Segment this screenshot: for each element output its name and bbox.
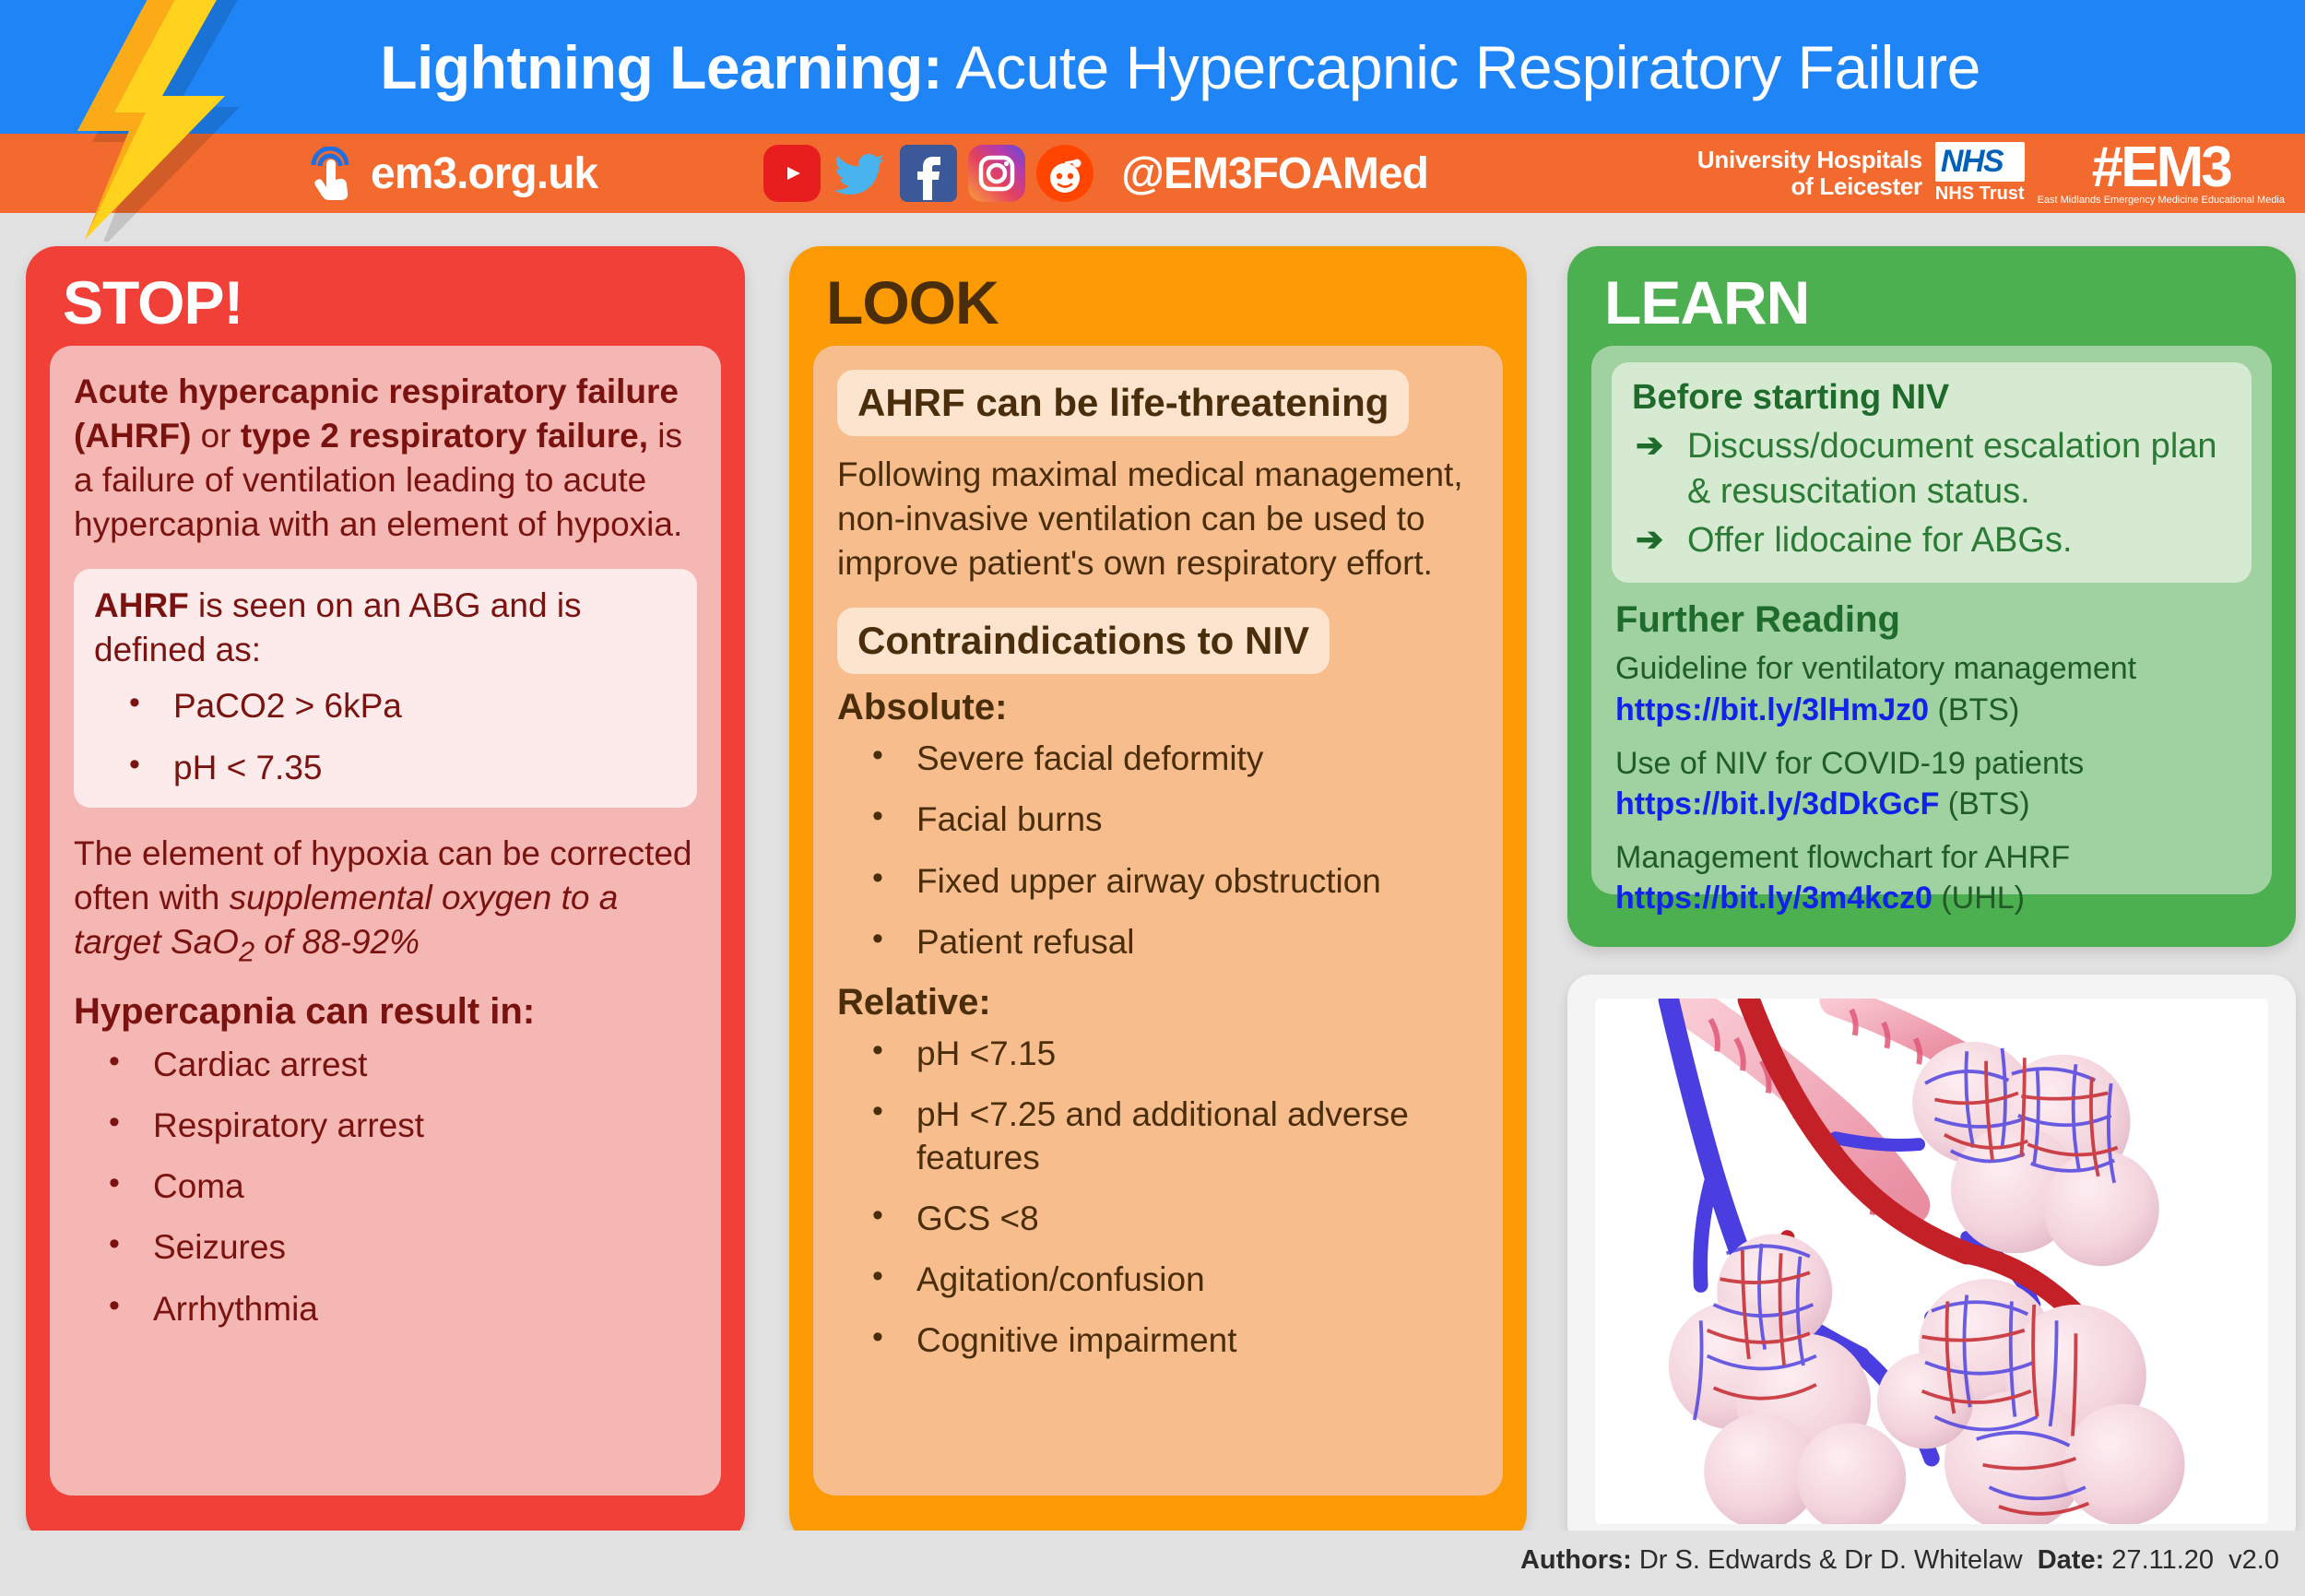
reference-item: Guideline for ventilatory management htt… [1615,648,2252,729]
list-item: Agitation/confusion [837,1259,1479,1301]
reference-link[interactable]: https://bit.ly/3m4kcz0 [1615,881,1933,916]
list-item: Patient refusal [837,921,1479,964]
nhs-logo-box: NHS [1935,142,2025,182]
reference-link[interactable]: https://bit.ly/3lHmJz0 [1615,692,1929,727]
learn-card-inner: Before starting NIV Discuss/document esc… [1591,346,2272,894]
stop-heading: STOP! [63,268,721,338]
list-item: Coma [74,1165,697,1208]
uhl-nhs-logo-group: University Hospitals of Leicester NHS NH… [1697,141,2305,207]
stop-definition-text: AHRF is seen on an ABG and is defined as… [94,584,677,672]
look-paragraph: Following maximal medical management, no… [837,453,1479,585]
nhs-trust-label: NHS Trust [1935,183,2025,205]
nhs-wordmark: NHS [1941,144,2003,179]
reference-source: (BTS) [1939,786,2029,822]
list-item: Cognitive impairment [837,1319,1479,1362]
list-item: Respiratory arrest [74,1105,697,1147]
list-item: Discuss/document escalation plan & resus… [1632,424,2231,514]
footer-credits: Authors: Dr S. Edwards & Dr D. Whitelaw … [1520,1545,2279,1576]
header-title-bar: Lightning Learning: Acute Hypercapnic Re… [0,0,2305,134]
reference-item: Use of NIV for COVID-19 patients https:/… [1615,743,2252,824]
stop-definition-box: AHRF is seen on an ABG and is defined as… [74,569,697,808]
look-absolute-label: Absolute: [837,687,1479,728]
page-title-strong: Lightning Learning: [380,33,942,101]
version-value: v2.0 [2228,1545,2279,1575]
facebook-icon[interactable] [900,145,957,202]
trust-name-line1: University Hospitals [1697,147,1922,173]
list-item: pH <7.15 [837,1033,1479,1075]
trust-name-line2: of Leicester [1697,173,1922,200]
list-item: Cardiac arrest [74,1044,697,1086]
reference-text: Guideline for ventilatory management [1615,651,2136,686]
content-board: STOP! Acute hypercapnic respiratory fail… [0,213,2305,1596]
list-item: GCS <8 [837,1198,1479,1240]
learn-card: LEARN Before starting NIV Discuss/docume… [1567,246,2296,947]
youtube-icon[interactable] [763,145,821,202]
look-pill-contraindications: Contraindications to NIV [837,608,1330,674]
stop-hypoxia-italic-2: of 88-92% [254,923,420,961]
learn-further-reading-title: Further Reading [1615,599,2252,641]
page-title: Lightning Learning: Acute Hypercapnic Re… [325,32,1980,102]
reference-source: (BTS) [1929,692,2019,727]
date-label: Date: [2038,1545,2105,1575]
alveoli-image-panel [1567,975,2296,1548]
list-item: Arrhythmia [74,1288,697,1330]
authors-names: Dr S. Edwards & Dr D. Whitelaw [1632,1545,2023,1575]
stop-hypoxia-subscript: 2 [239,936,254,968]
em3-hashtag-logo: #EM3 East Midlands Emergency Medicine Ed… [2038,141,2285,207]
list-item: pH < 7.35 [94,747,677,789]
look-heading: LOOK [826,268,1503,338]
reference-source: (UHL) [1933,881,2025,916]
tap-cursor-icon [304,147,356,200]
stop-result-list: Cardiac arrest Respiratory arrest Coma S… [74,1044,697,1330]
header-social-bar: em3.org.uk [0,134,2305,213]
website-group[interactable]: em3.org.uk [304,147,597,200]
stop-definition-bold: AHRF [94,586,189,624]
stop-hypoxia-paragraph: The element of hypoxia can be corrected … [74,832,697,971]
em3-hashtag: #EM3 [2038,141,2285,195]
date-value: 27.11.20 [2104,1545,2214,1575]
list-item: Offer lidocaine for ABGs. [1632,518,2231,563]
stop-intro-paragraph: Acute hypercapnic respiratory failure (A… [74,370,697,547]
stop-card: STOP! Acute hypercapnic respiratory fail… [26,246,745,1544]
stop-card-inner: Acute hypercapnic respiratory failure (A… [50,346,721,1496]
learn-niv-title: Before starting NIV [1632,377,2231,420]
alveoli-capillary-illustration [1595,999,2268,1524]
footer-bar: Authors: Dr S. Edwards & Dr D. Whitelaw … [0,1531,2305,1596]
learn-niv-list: Discuss/document escalation plan & resus… [1632,424,2231,562]
nhs-logo: NHS NHS Trust [1935,142,2025,205]
learn-heading: LEARN [1604,268,2272,338]
social-icons-group[interactable]: @EM3FOAMed [763,145,1428,202]
reference-text: Use of NIV for COVID-19 patients [1615,746,2084,781]
social-handle[interactable]: @EM3FOAMed [1121,148,1428,199]
list-item: pH <7.25 and additional adverse features [837,1094,1479,1179]
list-item: Seizures [74,1226,697,1269]
authors-label: Authors: [1520,1545,1632,1575]
reference-text: Management flowchart for AHRF [1615,840,2070,875]
reference-item: Management flowchart for AHRF https://bi… [1615,837,2252,918]
twitter-icon[interactable] [832,145,889,202]
stop-intro-bold-2: type 2 respiratory failure, [241,417,648,455]
list-item: Fixed upper airway obstruction [837,860,1479,903]
instagram-icon[interactable] [968,145,1025,202]
em3-tagline: East Midlands Emergency Medicine Educati… [2038,195,2285,206]
look-card: LOOK AHRF can be life-threatening Follow… [789,246,1527,1544]
reference-link[interactable]: https://bit.ly/3dDkGcF [1615,786,1939,822]
look-relative-list: pH <7.15 pH <7.25 and additional adverse… [837,1033,1479,1363]
list-item: PaCO2 > 6kPa [94,685,677,727]
look-pill-life-threatening: AHRF can be life-threatening [837,370,1409,436]
look-card-inner: AHRF can be life-threatening Following m… [813,346,1503,1496]
list-item: Facial burns [837,798,1479,841]
stop-result-label: Hypercapnia can result in: [74,991,697,1033]
stop-intro-mid-1: or [191,417,240,455]
page-title-light: Acute Hypercapnic Respiratory Failure [942,33,1980,101]
look-relative-label: Relative: [837,982,1479,1023]
trust-name: University Hospitals of Leicester [1697,147,1922,200]
stop-definition-list: PaCO2 > 6kPa pH < 7.35 [94,685,677,789]
lightning-bolt-icon [44,0,256,242]
look-absolute-list: Severe facial deformity Facial burns Fix… [837,738,1479,964]
learn-niv-box: Before starting NIV Discuss/document esc… [1612,362,2252,583]
reddit-icon[interactable] [1036,145,1093,202]
list-item: Severe facial deformity [837,738,1479,780]
website-label[interactable]: em3.org.uk [371,148,597,199]
